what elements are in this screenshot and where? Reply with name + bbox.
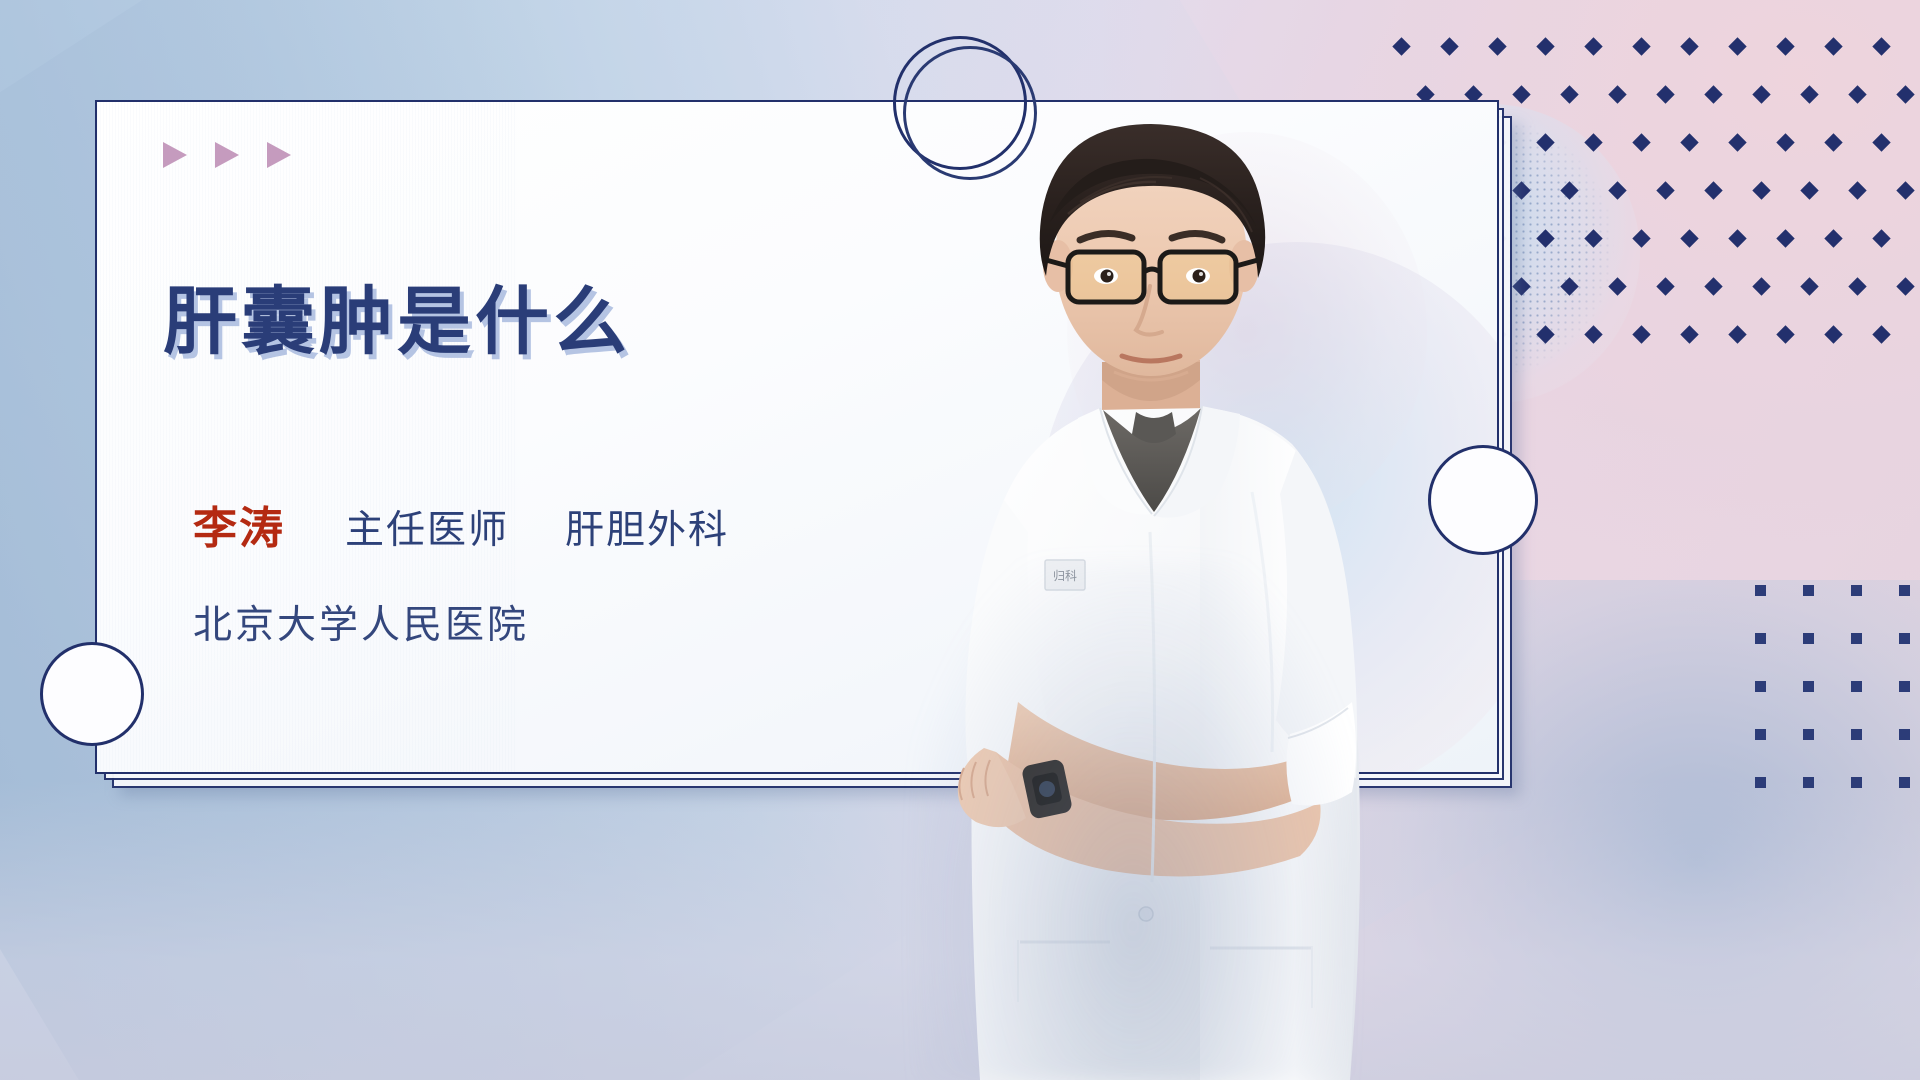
decor-square-dot <box>1899 729 1910 740</box>
decor-square-dot <box>1755 633 1766 644</box>
play-triangle-icon <box>215 142 239 168</box>
decor-square-dot <box>1755 585 1766 596</box>
decor-square-dot <box>1899 777 1910 788</box>
decor-square-dot <box>1803 777 1814 788</box>
decor-square-dot <box>1851 585 1862 596</box>
doctor-title: 主任医师 <box>345 499 509 555</box>
decor-triangle-row <box>163 142 291 168</box>
decor-square-dot <box>1899 585 1910 596</box>
decor-square-dot <box>1851 777 1862 788</box>
decor-square-dot <box>1755 777 1766 788</box>
play-triangle-icon <box>267 142 291 168</box>
decor-square-dot <box>1803 633 1814 644</box>
decor-square-dot <box>1899 681 1910 692</box>
title-card-stage: 肝囊肿是什么 李涛 主任医师 肝胆外科 北京大学人民医院 <box>0 0 1920 1080</box>
doctor-department: 肝胆外科 <box>565 499 729 555</box>
decor-square-dot <box>1803 729 1814 740</box>
card-texture <box>97 102 517 772</box>
doctor-name: 李涛 <box>193 492 285 556</box>
hospital-name: 北京大学人民医院 <box>193 594 529 650</box>
decor-square-dot <box>1851 633 1862 644</box>
page-title: 肝囊肿是什么 <box>163 262 631 369</box>
doctor-portrait: 归科 <box>900 62 1460 1080</box>
decor-square-dot <box>1899 633 1910 644</box>
decor-square-dot <box>1851 729 1862 740</box>
decor-circle-bottom-left <box>40 642 144 746</box>
decor-square-dot <box>1851 681 1862 692</box>
decor-square-dot <box>1755 729 1766 740</box>
decor-square-dot <box>1803 585 1814 596</box>
decor-square-dot <box>1803 681 1814 692</box>
doctor-credentials: 李涛 主任医师 肝胆外科 <box>193 492 729 556</box>
play-triangle-icon <box>163 142 187 168</box>
doctor-shadow <box>918 562 1348 1080</box>
decor-square-dot <box>1755 681 1766 692</box>
